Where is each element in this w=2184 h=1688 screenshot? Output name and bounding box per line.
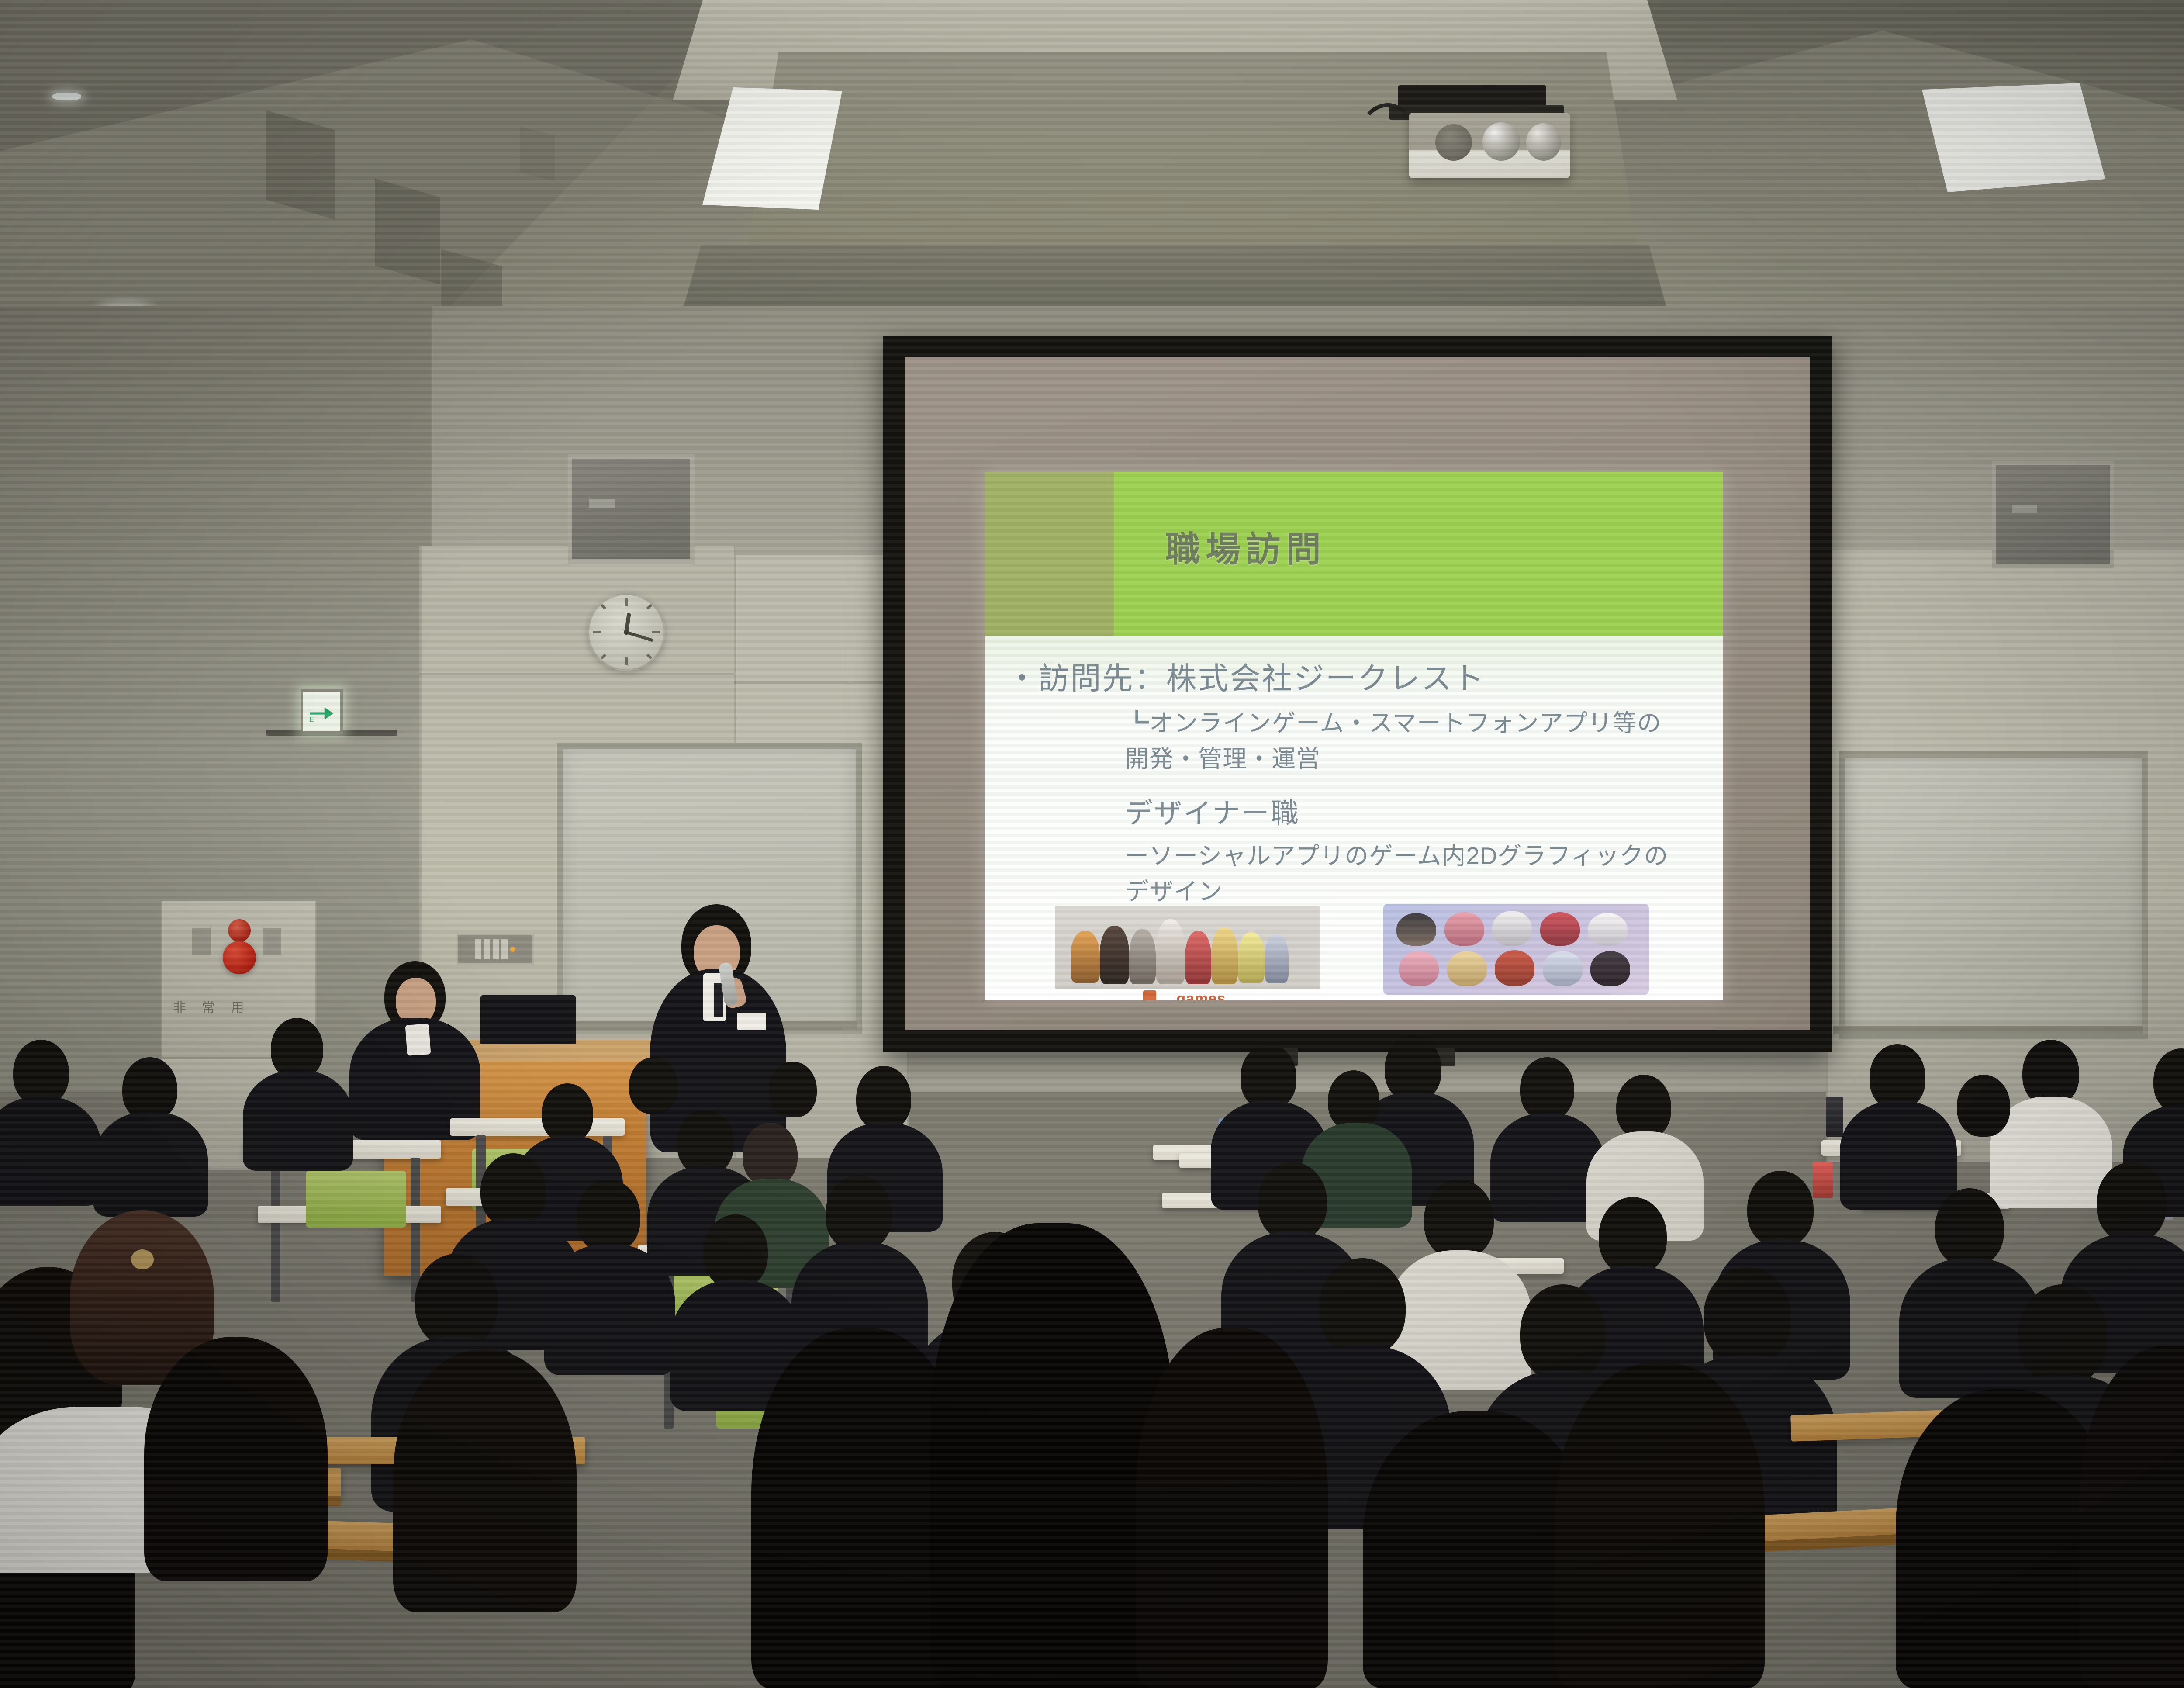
audience-head xyxy=(1258,1162,1327,1241)
audience-head xyxy=(1328,1070,1379,1131)
slide-body: ・訪問先：株式会社ジークレスト ┗オンラインゲーム・スマートフォンアプリ等の 開… xyxy=(985,636,1723,1000)
audience-body xyxy=(93,1112,208,1217)
audience-body xyxy=(243,1070,353,1171)
foreground-head xyxy=(1136,1328,1328,1688)
audience-head xyxy=(542,1083,593,1143)
audience-head xyxy=(677,1110,734,1175)
audience-head xyxy=(1704,1267,1791,1366)
audience-head xyxy=(1599,1197,1667,1275)
audience-head xyxy=(1520,1284,1606,1381)
whiteboard-tray-right xyxy=(1833,1026,2143,1034)
wall-speaker-left xyxy=(568,454,695,564)
slide-bullet-3: 開発・管理・運営 xyxy=(1125,739,1320,774)
audience-head xyxy=(826,1175,892,1251)
wall-speaker-right xyxy=(1992,461,2114,568)
audience-head xyxy=(743,1123,798,1186)
audience-head xyxy=(480,1153,546,1228)
student-desk xyxy=(450,1118,625,1136)
ceiling-vent-icon xyxy=(375,178,440,284)
ceiling-vent-icon xyxy=(520,127,555,181)
audience-head xyxy=(856,1066,911,1131)
slide-image-chibi-right xyxy=(1383,904,1649,995)
presentation-slide: 職場訪問 ・訪問先：株式会社ジークレスト ┗オンラインゲーム・スマートフォンアプ… xyxy=(985,472,1723,1000)
hair-clip xyxy=(131,1249,154,1269)
audience-head xyxy=(2018,1284,2107,1385)
audience-head xyxy=(415,1254,498,1348)
clock-minute-hand xyxy=(626,631,653,642)
fire-panel-label: 非 常 用 xyxy=(173,997,250,1016)
ceiling-lower-edge xyxy=(681,245,1669,315)
fire-panel-grill xyxy=(263,928,281,955)
slide-bullet-5: ーソーシャルアプリのゲーム内2Dグラフィックの xyxy=(1125,836,1668,871)
audience-head xyxy=(2097,1162,2167,1242)
fire-alarm-bell-icon xyxy=(223,941,256,974)
presenter-name-badge xyxy=(737,1013,766,1030)
audience-head xyxy=(1747,1171,1814,1247)
exit-arrow-icon: E xyxy=(308,697,336,726)
audience-body xyxy=(1840,1101,1957,1210)
svg-text:E: E xyxy=(309,715,314,723)
lecture-hall-photo: E 非 常 用 職場訪問 ・訪問先：株式会社ジークレスト ┗オンラインゲーム・ス… xyxy=(0,0,2184,1688)
audience-head xyxy=(769,1062,817,1117)
ceiling-projector xyxy=(1409,113,1570,178)
wall-seam xyxy=(419,673,734,675)
audience-head xyxy=(629,1057,678,1114)
foreground-head xyxy=(144,1337,328,1581)
wall-clock xyxy=(587,593,665,671)
slide-bullet-4: デザイナー職 xyxy=(1125,791,1300,831)
audience-head xyxy=(1520,1057,1574,1120)
projector-lens-icon xyxy=(1526,123,1561,161)
fire-panel-grill xyxy=(192,928,211,955)
audience-head xyxy=(271,1018,323,1079)
projector-lens-icon xyxy=(1435,124,1472,161)
drink-bottle xyxy=(1826,1097,1843,1137)
audience-head xyxy=(1957,1075,2010,1137)
exit-sign: E xyxy=(301,689,343,734)
audience-head xyxy=(1935,1188,2004,1267)
light-switch-plate[interactable] xyxy=(457,934,534,965)
games-logo-mark-icon xyxy=(1143,990,1156,1000)
audience-head xyxy=(1319,1258,1406,1356)
wall-seam xyxy=(734,681,909,684)
slide-header-band xyxy=(985,472,1114,636)
whiteboard-right xyxy=(1839,751,2148,1039)
slide-image-characters-left xyxy=(1055,906,1320,989)
audience-head xyxy=(13,1040,69,1105)
projector-lens-icon xyxy=(1482,122,1520,161)
audience-head xyxy=(703,1214,768,1289)
audience-head xyxy=(1424,1180,1494,1259)
desk-leg xyxy=(271,1158,280,1302)
slide-title: 職場訪問 xyxy=(1165,521,1326,572)
downlight-icon xyxy=(52,93,81,100)
audience-head xyxy=(1870,1044,1925,1110)
slide-bullet-2: ┗オンラインゲーム・スマートフォンアプリ等の xyxy=(1125,703,1662,738)
games-logo-text: games xyxy=(1176,990,1226,1000)
audience-body xyxy=(0,1097,101,1206)
audience-head xyxy=(1616,1075,1671,1139)
audience-head xyxy=(577,1180,640,1253)
student-chair xyxy=(306,1171,406,1228)
presenter-laptop[interactable] xyxy=(480,995,576,1044)
fire-alarm-lamp xyxy=(228,919,251,942)
audience-head xyxy=(1241,1044,1296,1110)
slide-bullet-6: デザイン xyxy=(1125,872,1223,907)
slide-bullet-1: ・訪問先：株式会社ジークレスト xyxy=(1007,654,1485,698)
foreground-head xyxy=(393,1350,577,1612)
foreground-head xyxy=(1555,1363,1765,1688)
audience-body xyxy=(544,1244,675,1375)
slide-header: 職場訪問 xyxy=(985,472,1723,636)
drink-bottle xyxy=(1813,1162,1833,1198)
ceiling-light-panel xyxy=(1922,83,2105,192)
seated-operator-shirt xyxy=(405,1024,431,1056)
